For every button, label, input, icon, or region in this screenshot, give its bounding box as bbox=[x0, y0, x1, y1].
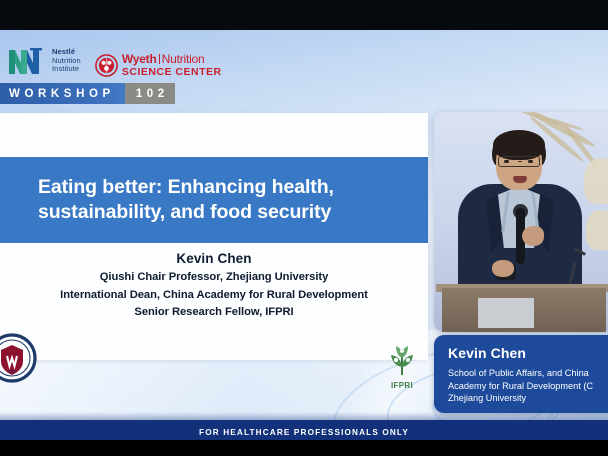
decor-vase bbox=[584, 158, 608, 204]
disclaimer-text: FOR HEALTHCARE PROFESSIONALS ONLY bbox=[199, 428, 409, 437]
speaker-name-card: Kevin Chen School of Public Affairs, and… bbox=[434, 335, 608, 413]
disclaimer-banner: FOR HEALTHCARE PROFESSIONALS ONLY bbox=[0, 420, 608, 440]
nni-logo-icon bbox=[6, 44, 48, 78]
header-logos: Nestlé Nutrition Institute bbox=[6, 44, 222, 78]
speaker-name: Kevin Chen bbox=[0, 249, 428, 269]
nni-line-3: Institute bbox=[52, 65, 81, 74]
nni-logo-wordmark: Nestlé Nutrition Institute bbox=[52, 48, 81, 74]
video-player-stage: Nestlé Nutrition Institute bbox=[0, 0, 608, 456]
wyeth-line-1: WyethNutrition bbox=[122, 53, 222, 66]
decor-vase bbox=[586, 210, 608, 250]
workshop-number: 102 bbox=[125, 83, 175, 104]
footer-shadow bbox=[0, 412, 608, 420]
svg-text:EST: EST bbox=[8, 369, 16, 374]
speaker-role-2: International Dean, China Academy for Ru… bbox=[0, 287, 428, 305]
presenter-mouth bbox=[513, 176, 527, 183]
presenter-eye bbox=[504, 160, 509, 163]
speaker-role-1: Qiushi Chair Professor, Zhejiang Univers… bbox=[0, 269, 428, 287]
presentation-slide: Nestlé Nutrition Institute bbox=[0, 30, 608, 440]
workshop-bar: WORKSHOP 102 bbox=[0, 83, 175, 104]
speaker-video-feed[interactable] bbox=[434, 112, 608, 332]
letterbox-bottom bbox=[0, 440, 608, 456]
podium-monitor bbox=[478, 298, 534, 328]
workshop-label: WORKSHOP bbox=[0, 83, 125, 104]
presenter-hand-left bbox=[492, 260, 514, 277]
name-card-affiliation: School of Public Affairs, and China Acad… bbox=[448, 367, 608, 405]
speaker-credentials: Kevin Chen Qiushi Chair Professor, Zheji… bbox=[0, 249, 428, 322]
nestle-nutrition-institute-logo: Nestlé Nutrition Institute bbox=[6, 44, 81, 78]
wyeth-nutrition-science-center-logo: WyethNutrition SCIENCE CENTER bbox=[95, 53, 222, 78]
wyeth-nutrition-word: Nutrition bbox=[162, 52, 205, 66]
presenter-eye bbox=[528, 160, 533, 163]
wyeth-name: Wyeth bbox=[122, 52, 157, 66]
wyeth-divider-icon bbox=[159, 54, 160, 64]
speaker-role-3: Senior Research Fellow, IFPRI bbox=[0, 304, 428, 322]
wyeth-line-2: SCIENCE CENTER bbox=[122, 66, 222, 78]
wyeth-wordmark: WyethNutrition SCIENCE CENTER bbox=[122, 53, 222, 78]
university-seal-icon: EST bbox=[0, 332, 38, 384]
page-title: Eating better: Enhancing health, sustain… bbox=[0, 175, 360, 225]
presenter-hand-right bbox=[522, 226, 544, 246]
slide-content-card: Eating better: Enhancing health, sustain… bbox=[0, 113, 428, 360]
slide-title-band: Eating better: Enhancing health, sustain… bbox=[0, 157, 428, 243]
name-card-name: Kevin Chen bbox=[448, 344, 608, 362]
ifpri-logo: IFPRI bbox=[384, 343, 420, 387]
letterbox-top bbox=[0, 0, 608, 30]
ifpri-wordmark: IFPRI bbox=[384, 381, 420, 390]
wyeth-seal-icon bbox=[95, 54, 118, 77]
ifpri-plant-icon bbox=[384, 343, 420, 380]
